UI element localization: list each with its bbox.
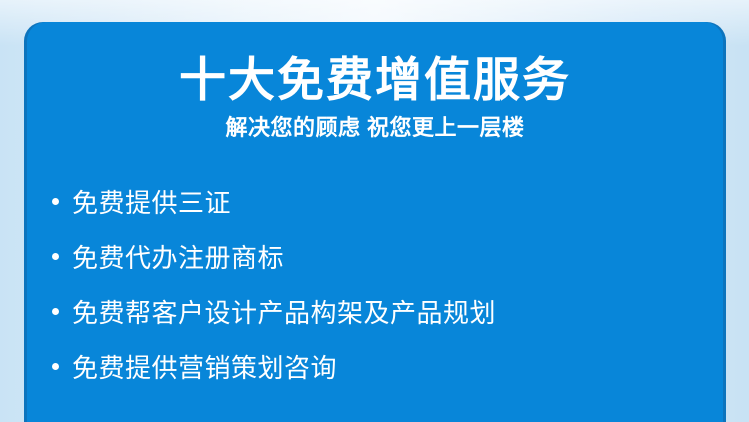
dot-bullet-icon — [52, 363, 59, 370]
dot-bullet-icon — [52, 308, 59, 315]
list-item: 免费帮客户设计产品构架及产品规划 — [50, 284, 723, 339]
benefits-card: 十大免费增值服务 解决您的顾虑 祝您更上一层楼 免费提供三证 免费代办注册商标 … — [27, 22, 723, 422]
promo-banner-page: 十大免费增值服务 解决您的顾虑 祝您更上一层楼 免费提供三证 免费代办注册商标 … — [0, 0, 749, 422]
list-item: 免费代办注册商标 — [50, 229, 723, 284]
benefit-label: 免费提供营销策划咨询 — [72, 348, 337, 385]
page-title: 十大免费增值服务 — [27, 22, 723, 106]
benefit-label: 免费提供三证 — [72, 183, 231, 220]
benefit-label: 免费代办注册商标 — [72, 238, 284, 275]
dot-bullet-icon — [52, 198, 59, 205]
card-content: 十大免费增值服务 解决您的顾虑 祝您更上一层楼 免费提供三证 免费代办注册商标 … — [27, 22, 723, 422]
benefit-label: 免费帮客户设计产品构架及产品规划 — [72, 293, 496, 330]
dot-bullet-icon — [52, 253, 59, 260]
list-item: 免费提供营销策划咨询 — [50, 339, 723, 394]
list-item: 免费提供三证 — [50, 174, 723, 229]
page-subtitle: 解决您的顾虑 祝您更上一层楼 — [27, 106, 723, 141]
benefits-list: 免费提供三证 免费代办注册商标 免费帮客户设计产品构架及产品规划 免费提供营销策… — [27, 141, 723, 394]
